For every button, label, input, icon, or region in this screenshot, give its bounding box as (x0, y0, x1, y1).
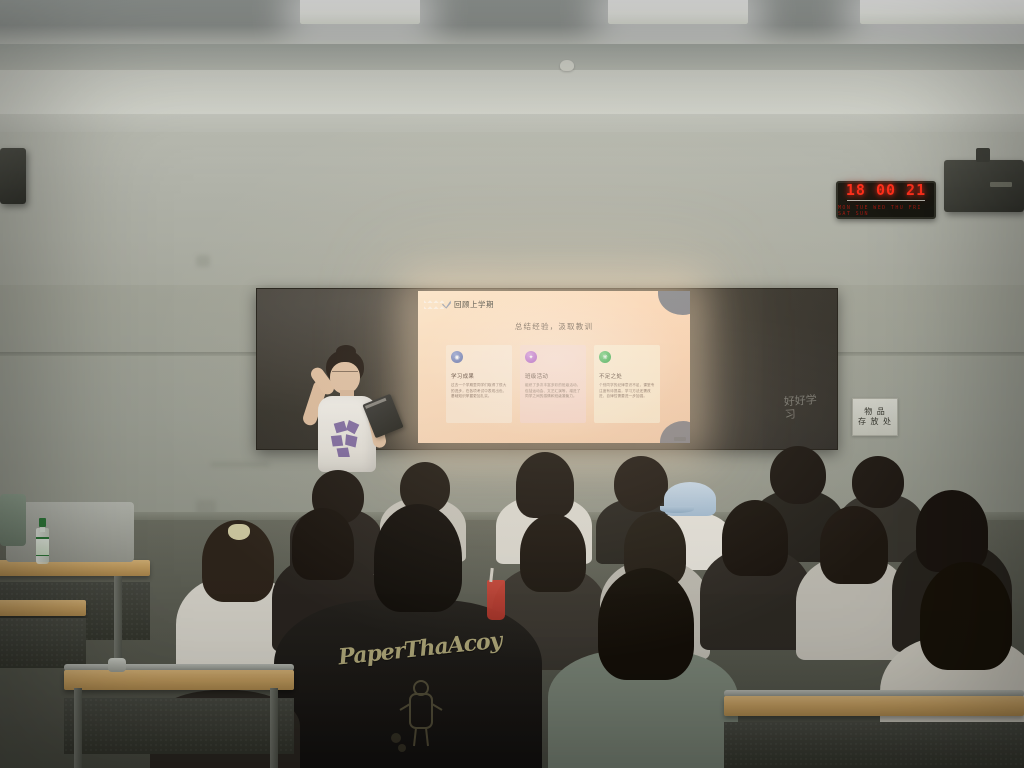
card-body: 个别同学的纪律意识不足，课堂专注度有待提高，学习方法还需改进，自律性需要进一步加… (599, 383, 655, 400)
card-body: 过去一个学期里同学们取得了很大的进步，在各项考试中表现出色，基础知识掌握更加扎实… (451, 383, 507, 400)
slide-card: ✦ 班级活动 组织了多次丰富多彩的班级活动，包括运动会、文艺汇演等，增进了同学之… (520, 345, 586, 423)
slide-tab: 回顾上学期 (442, 299, 494, 310)
chair-back (0, 494, 26, 546)
star-icon: ✦ (525, 351, 537, 363)
clock-time: 18 00 21 (846, 183, 926, 198)
chalk-writing: 好好学习 (783, 394, 824, 443)
red-cup (487, 580, 505, 620)
glasses-icon (332, 371, 358, 378)
ceiling-light (860, 0, 1024, 24)
card-title: 班级活动 (525, 372, 581, 380)
digital-clock: 18 00 21 MON TUE WED THU FRI SAT SUN (836, 181, 936, 219)
sign-line-1: 物 品 (864, 407, 886, 417)
smoke-detector-icon (560, 60, 574, 71)
shirt-artwork (388, 680, 458, 756)
shirt-graphic-print (328, 418, 366, 458)
slide-checker-decoration (424, 297, 444, 311)
card-title: 学习成果 (451, 372, 507, 380)
bottle-cap (39, 518, 46, 527)
slide-card: ❋ 不足之处 个别同学的纪律意识不足，课堂专注度有待提高，学习方法还需改进，自律… (594, 345, 660, 423)
clock-weekday-row: MON TUE WED THU FRI SAT SUN (838, 205, 934, 217)
bottle-label (36, 537, 49, 556)
slide-decoration-top-right (658, 291, 690, 315)
slide-tab-title: 回顾上学期 (454, 299, 494, 310)
classroom-photo: 18 00 21 MON TUE WED THU FRI SAT SUN 物 品… (0, 0, 1024, 768)
ceiling-band (0, 70, 1024, 114)
sign-line-2: 存 放 处 (858, 417, 892, 427)
projection-screen: 回顾上学期 总结经验，汲取教训 ◉ 学习成果 过去一个学期里同学们取得了很大的进… (418, 291, 690, 443)
slide-heading: 总结经验，汲取教训 (418, 321, 690, 332)
mount-bracket-icon (976, 148, 990, 162)
wall-mark (196, 255, 210, 267)
clock-divider (847, 200, 925, 201)
ceiling-light (300, 0, 420, 24)
slide-card: ◉ 学习成果 过去一个学期里同学们取得了很大的进步，在各项考试中表现出色，基础知… (446, 345, 512, 423)
desk (64, 664, 294, 768)
speaker-icon (0, 148, 26, 204)
water-bottle (36, 518, 49, 564)
storage-sign: 物 品 存 放 处 (852, 398, 898, 436)
leaf-icon: ❋ (599, 351, 611, 363)
desk (724, 690, 1024, 768)
book-icon: ◉ (451, 351, 463, 363)
screen-logo-icon (674, 437, 686, 441)
desk-hook-icon (108, 658, 126, 672)
card-title: 不足之处 (599, 372, 655, 380)
card-body: 组织了多次丰富多彩的班级活动，包括运动会、文艺汇演等，增进了同学之间的感情和班级… (525, 383, 581, 400)
ceiling-light (608, 0, 748, 24)
check-icon (442, 300, 451, 309)
slide-cards: ◉ 学习成果 过去一个学期里同学们取得了很大的进步，在各项考试中表现出色，基础知… (446, 345, 662, 423)
ceiling-band (0, 44, 1024, 70)
wall-mark (210, 462, 270, 467)
speaker-icon (944, 160, 1024, 212)
